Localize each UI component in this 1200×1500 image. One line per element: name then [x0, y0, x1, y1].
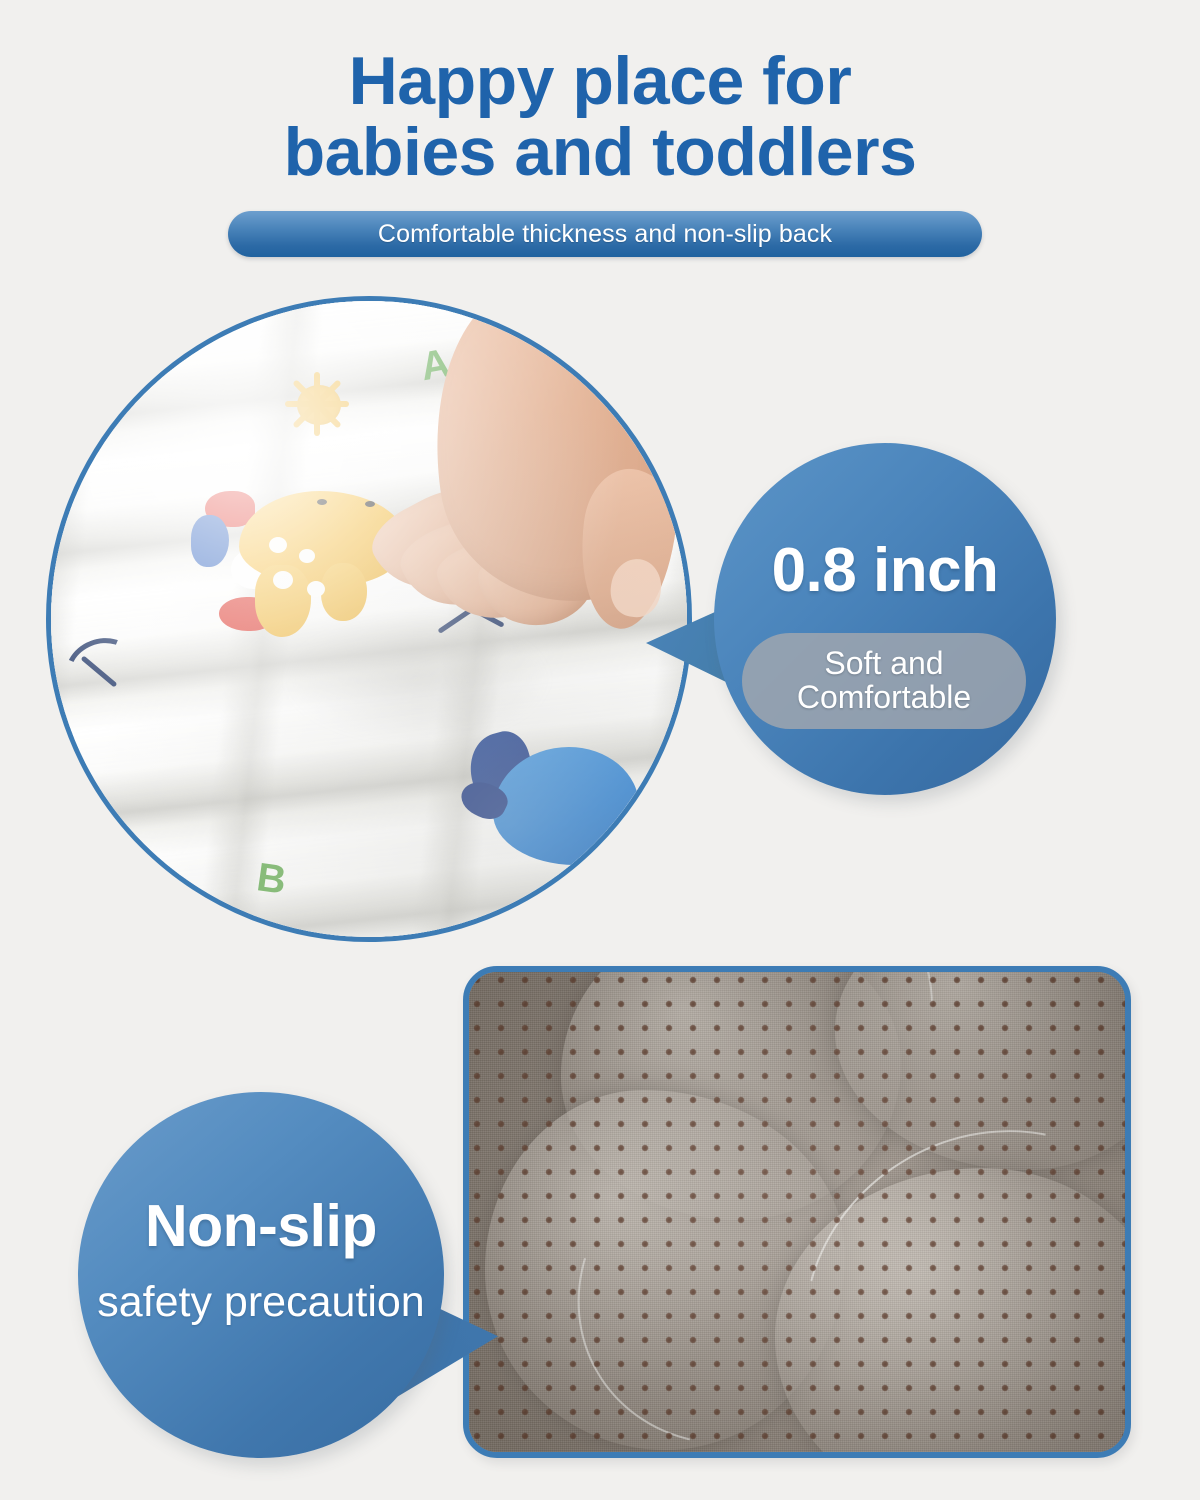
callout-bubble [714, 443, 1056, 795]
subtitle-text: Comfortable thickness and non-slip back [378, 220, 832, 249]
nonslip-subtitle: safety precaution [64, 1278, 458, 1327]
mattress-backside-photo [463, 966, 1131, 1458]
page-title: Happy place for babies and toddlers [0, 0, 1200, 187]
comfort-pill-line-2: Comfortable [797, 681, 971, 715]
comfort-pill-line-1: Soft and [824, 647, 943, 681]
comfort-pill-badge: Soft and Comfortable [742, 633, 1026, 729]
headline-line-1: Happy place for [0, 46, 1200, 117]
mattress-topside-photo: A B [46, 296, 692, 942]
headline-line-2: babies and toddlers [0, 117, 1200, 188]
callout-bubble [78, 1092, 444, 1458]
infographic-page: Happy place for babies and toddlers Comf… [0, 0, 1200, 1500]
nonslip-title: Non-slip [78, 1192, 444, 1260]
photo-sheen-overlay [51, 301, 687, 937]
thickness-photo-wrap: A B [46, 296, 692, 942]
photo-scene: A B [51, 301, 687, 937]
photo-vignette-overlay [469, 972, 1125, 1452]
header: Happy place for babies and toddlers [0, 0, 1200, 187]
nonslip-callout: Non-slip safety precaution [78, 1092, 498, 1458]
thickness-value: 0.8 inch [714, 535, 1056, 606]
thickness-callout: 0.8 inch Soft and Comfortable [646, 443, 1056, 853]
subtitle-banner: Comfortable thickness and non-slip back [228, 211, 982, 257]
